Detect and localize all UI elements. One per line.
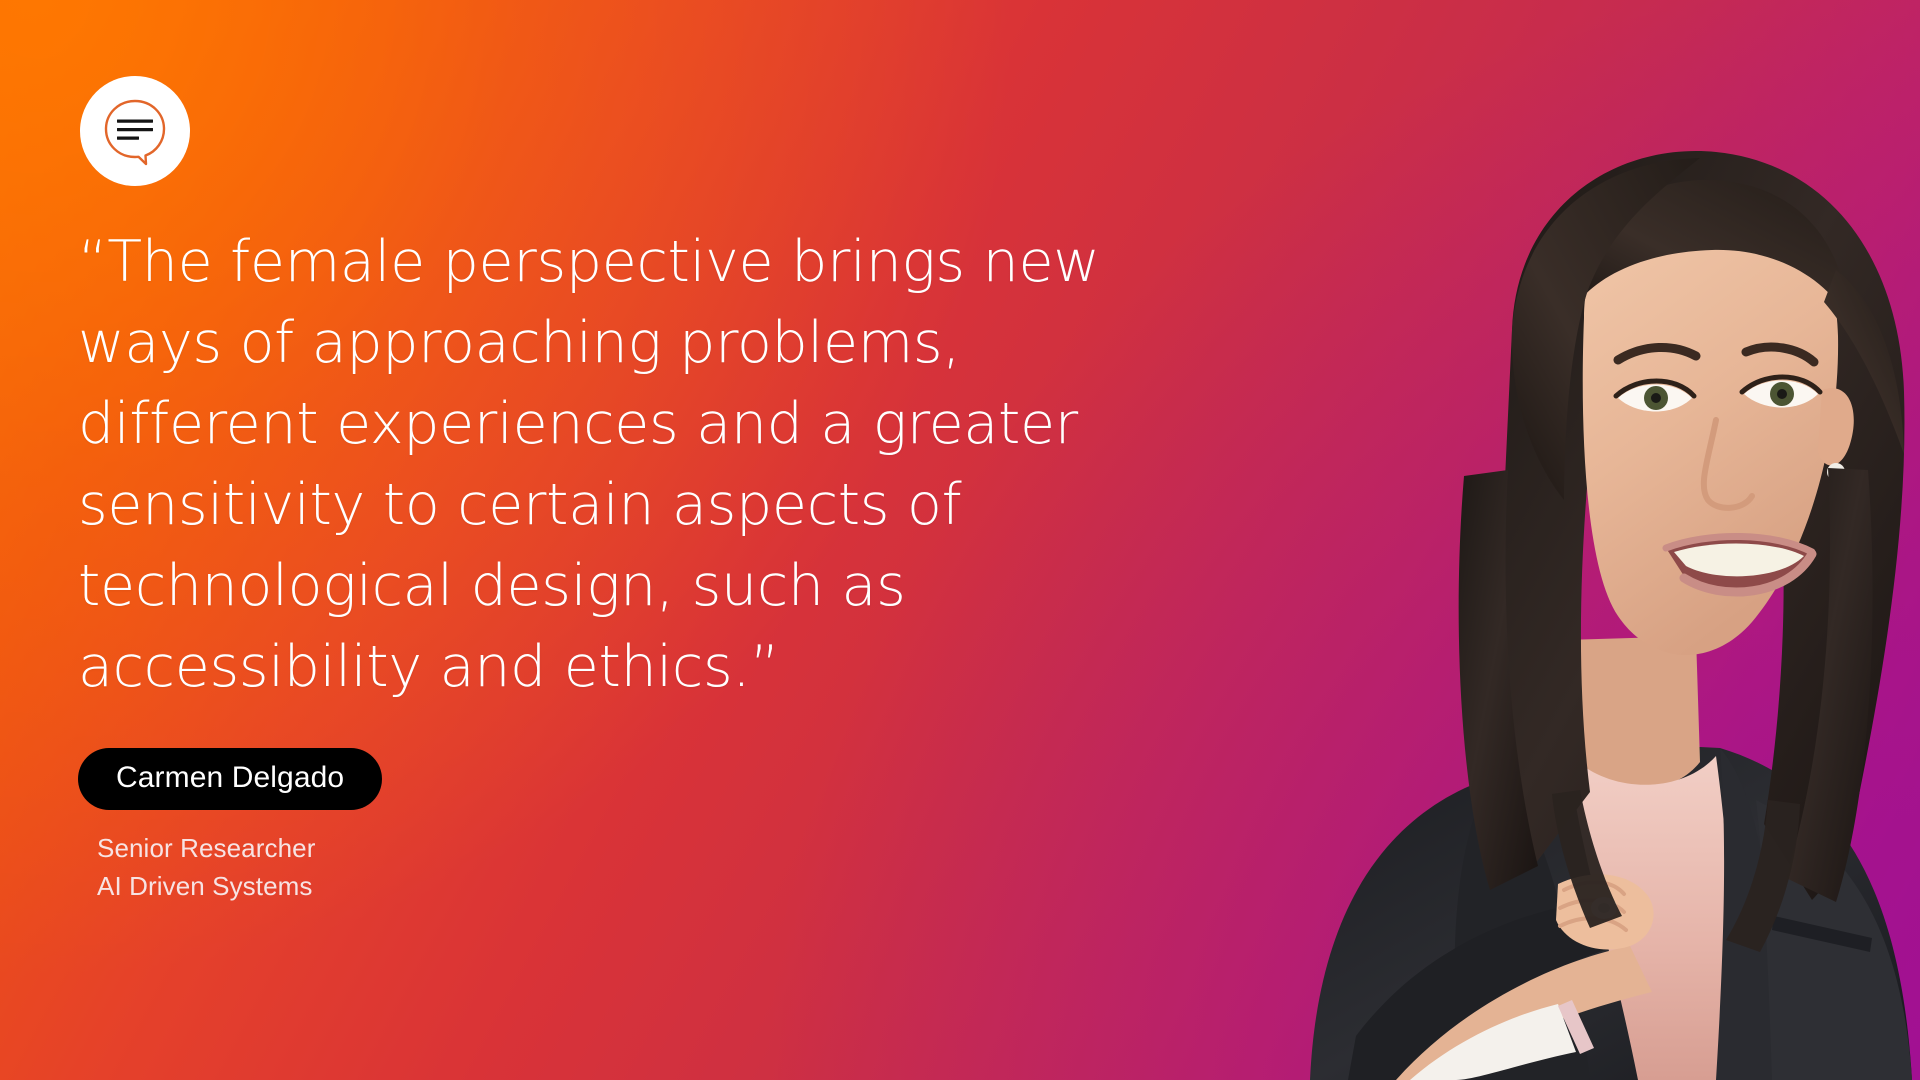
quote-card: “The female perspective brings new ways … <box>0 0 1920 1080</box>
speaker-photo <box>1160 0 1920 1080</box>
speaker-name-badge[interactable]: Carmen Delgado <box>78 748 382 810</box>
speaker-organization: AI Driven Systems <box>97 867 382 905</box>
speaker-role: Senior Researcher <box>97 829 382 867</box>
quote-text: “The female perspective brings new ways … <box>78 222 1188 708</box>
speaker-role-block: Senior Researcher AI Driven Systems <box>78 829 382 905</box>
attribution-block: Carmen Delgado Senior Researcher AI Driv… <box>78 748 382 905</box>
quote-block: “The female perspective brings new ways … <box>78 222 1188 708</box>
logo-badge[interactable] <box>80 76 190 186</box>
speech-bubble-lines-icon <box>98 94 172 168</box>
